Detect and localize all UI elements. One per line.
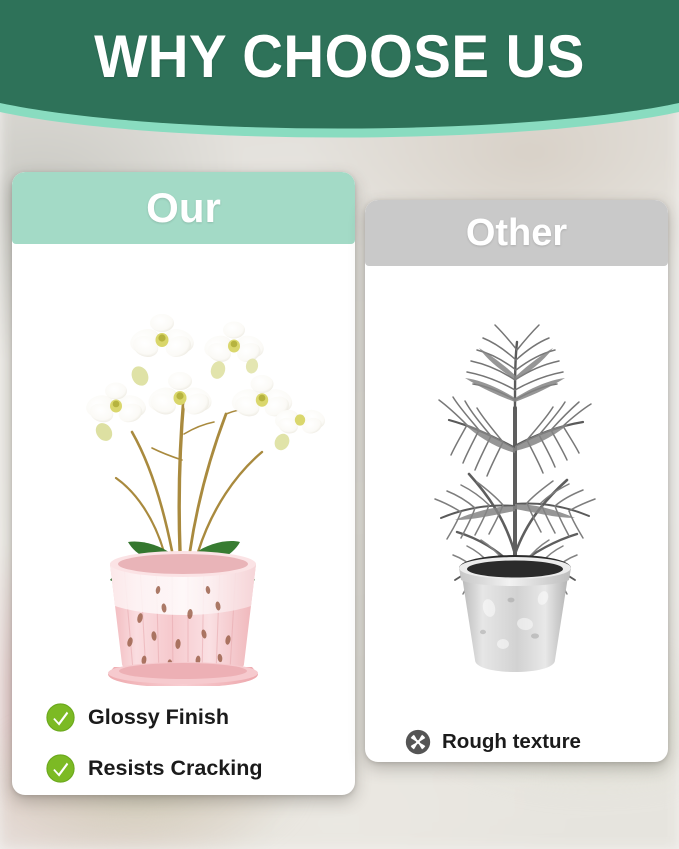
gray-palm-plain-pot-illustration [365,268,668,698]
list-item-label: Rough texture [442,730,581,754]
list-item-label: Glossy Finish [88,705,229,730]
list-item: Glossy Finish [46,692,355,743]
why-choose-us-infographic: WHY CHOOSE US Our [0,0,679,849]
orchid-pink-pot-illustration [12,246,355,686]
our-card: Our [12,172,355,795]
list-item: Resists Cracking [46,743,355,794]
page-title: WHY CHOOSE US [20,22,658,91]
list-item-label: Resists Cracking [88,756,262,781]
our-card-heading: Our [12,172,355,244]
check-circle-icon [46,703,75,732]
header-banner: WHY CHOOSE US [0,0,679,150]
our-feature-list: Glossy Finish Resists Cracking Stain-Res… [12,692,355,795]
our-product-image [12,246,355,686]
other-card: Other [365,200,668,762]
list-item: Rough texture [405,718,668,762]
x-circle-icon [405,729,431,755]
other-feature-list: Rough texture Prone to Cracking Not Dirt… [365,718,668,762]
other-card-heading: Other [365,200,668,266]
other-product-image [365,268,668,698]
list-item: Stain-Resistant Glaze [46,794,355,795]
check-circle-icon [46,754,75,783]
